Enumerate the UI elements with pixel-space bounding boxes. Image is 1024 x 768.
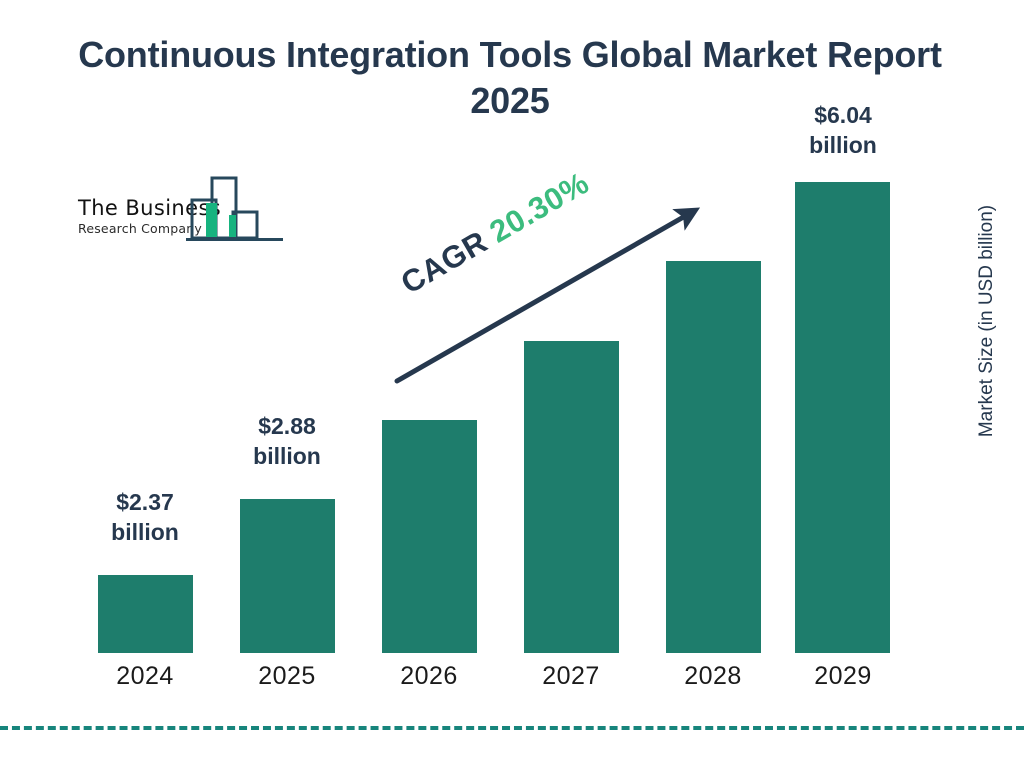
bar-2026 (382, 420, 477, 653)
bar-value-2024-unit: billion (111, 519, 179, 545)
bar-value-2024: $2.37 billion (85, 487, 205, 548)
x-tick-2029: 2029 (783, 662, 903, 691)
bar-value-2029: $6.04 billion (783, 100, 903, 161)
bar-2024 (98, 575, 193, 653)
x-tick-2024: 2024 (85, 662, 205, 691)
bar-2025 (240, 499, 335, 653)
bar-value-2025-amount: $2.88 (258, 413, 316, 439)
x-tick-2028: 2028 (653, 662, 773, 691)
bar-2028 (666, 261, 761, 653)
x-tick-2025: 2025 (227, 662, 347, 691)
footer-divider (0, 726, 1024, 730)
bar-2029 (795, 182, 890, 653)
bar-value-2029-amount: $6.04 (814, 102, 872, 128)
bar-value-2024-amount: $2.37 (116, 489, 174, 515)
bar-2027 (524, 341, 619, 653)
x-tick-2026: 2026 (369, 662, 489, 691)
x-tick-2027: 2027 (511, 662, 631, 691)
bar-value-2025-unit: billion (253, 443, 321, 469)
chart-canvas: Continuous Integration Tools Global Mark… (0, 0, 1024, 768)
y-axis-title: Market Size (in USD billion) (976, 141, 998, 501)
plot-area: $2.37 billion 2024 $2.88 billion 2025 20… (0, 0, 1024, 768)
bar-value-2025: $2.88 billion (227, 411, 347, 472)
bar-value-2029-unit: billion (809, 132, 877, 158)
